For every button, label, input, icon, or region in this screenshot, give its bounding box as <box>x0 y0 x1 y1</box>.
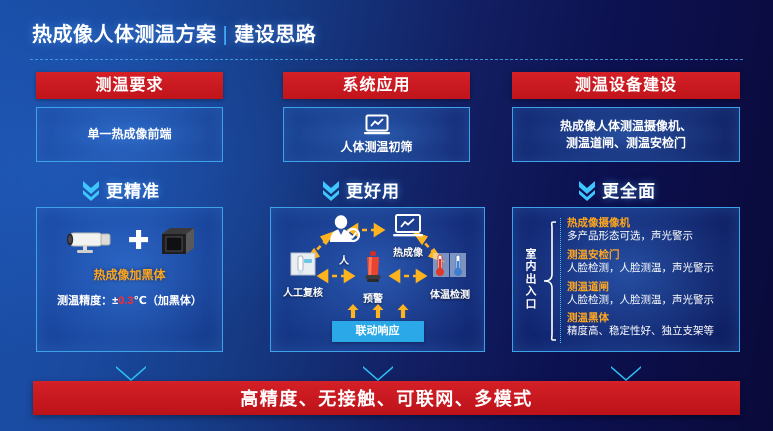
monitor-chart-icon <box>393 213 423 238</box>
chevron-down-double-icon <box>82 179 100 201</box>
person-check-icon <box>327 214 361 246</box>
chevron-down-icon <box>116 366 146 381</box>
column-2-top-text: 人体测温初筛 <box>340 139 412 155</box>
column-2-header: 系统应用 <box>283 72 470 99</box>
node-manual-review-label: 人工复核 <box>277 284 329 299</box>
column-device-construction: 测温设备建设 热成像人体测温摄像机、 测温道闸、测温安检门 <box>512 72 740 162</box>
monitor-chart-icon <box>364 114 390 135</box>
arrow-label-3-text: 更全面 <box>602 177 656 202</box>
slide-canvas: 热成像人体测温方案|建设思路 测温要求 单一热成像前端 更精准 <box>0 0 773 431</box>
bottom-chevrons <box>0 366 773 382</box>
device-item-desc: 人脸检测，人脸测温，声光警示 <box>567 294 733 308</box>
dual-thermometer-icon <box>432 252 468 280</box>
column-1-top-text: 单一热成像前端 <box>87 126 171 142</box>
chevron-down-double-icon <box>322 179 340 201</box>
column-1-device-label: 热成像加黑体 <box>37 266 222 283</box>
device-item-desc: 人脸检测，人脸测温，声光警示 <box>567 262 733 276</box>
column-3-top-panel: 热成像人体测温摄像机、 测温道闸、测温安检门 <box>512 107 740 162</box>
handheld-thermometer-icon <box>288 252 318 278</box>
accuracy-suffix: ℃（加黑体） <box>134 295 202 307</box>
node-manual-review: 人工复核 <box>277 252 329 299</box>
bottom-banner: 高精度、无接触、可联网、多模式 <box>33 381 740 415</box>
up-arrows <box>347 304 408 318</box>
blackbody-icon <box>158 224 198 256</box>
arrow-label-2: 更好用 <box>322 177 400 202</box>
column-temperature-requirements: 测温要求 单一热成像前端 <box>36 72 223 162</box>
brace-icon <box>543 220 557 342</box>
accuracy-prefix: 测温精度：± <box>57 295 118 307</box>
column-1-header: 测温要求 <box>36 72 223 99</box>
arrow-label-1: 更精准 <box>82 177 160 202</box>
title-main: 热成像人体测温方案 <box>32 24 217 46</box>
node-temperature-detection-label: 体温检测 <box>421 286 479 301</box>
column-3-top-text-line2: 测温道闸、测温安检门 <box>566 135 686 151</box>
device-item-title: 测温黑体 <box>567 312 733 325</box>
node-alarm-label: 预警 <box>350 290 396 305</box>
column-2-lower: 人工复核 人 <box>270 207 485 352</box>
page-title: 热成像人体测温方案|建设思路 <box>32 18 316 47</box>
plus-icon: ✚ <box>128 227 150 253</box>
chevron-down-double-icon <box>578 179 596 201</box>
linked-response-button[interactable]: 联动响应 <box>332 321 424 342</box>
list-item: 测温道闸 人脸检测，人脸测温，声光警示 <box>567 281 733 308</box>
thermal-camera-icon <box>61 225 119 255</box>
arrow-label-2-text: 更好用 <box>346 177 400 202</box>
title-separator: | <box>217 24 235 46</box>
node-alarm: 预警 <box>350 250 396 305</box>
column-1-device-row: ✚ <box>37 208 222 256</box>
node-temperature-detection: 体温检测 <box>421 252 479 301</box>
column-system-application: 系统应用 人体测温初筛 <box>283 72 470 162</box>
arrow-up-icon <box>397 304 408 318</box>
list-item: 测温安检门 人脸检测，人脸测温，声光警示 <box>567 249 733 276</box>
arrow-up-icon <box>347 304 358 318</box>
arrow-label-3: 更全面 <box>578 177 656 202</box>
arrow-label-1-text: 更精准 <box>106 177 160 202</box>
accuracy-value: 0.3 <box>118 295 133 307</box>
list-item: 测温黑体 精度高、稳定性好、独立支架等 <box>567 312 733 339</box>
arrow-up-icon <box>372 304 383 318</box>
device-item-title: 测温道闸 <box>567 281 733 294</box>
chevron-down-icon <box>611 366 641 381</box>
device-item-list: 热成像摄像机 多产品形态可选，声光警示 测温安检门 人脸检测，人脸测温，声光警示… <box>567 217 733 344</box>
device-item-title: 测温安检门 <box>567 249 733 262</box>
column-1-top-panel: 单一热成像前端 <box>36 107 223 162</box>
column-1-accuracy: 测温精度：±0.3℃（加黑体） <box>37 292 222 308</box>
chevron-down-icon <box>363 366 393 381</box>
title-sub: 建设思路 <box>234 24 316 46</box>
column-3-header: 测温设备建设 <box>512 72 740 99</box>
column-3-lower: 室内出入口 热成像摄像机 多产品形态可选，声光警示 测温安检门 人脸检测，人脸测… <box>512 207 740 352</box>
device-item-desc: 多产品形态可选，声光警示 <box>567 230 733 244</box>
column-3-top-text-line1: 热成像人体测温摄像机、 <box>560 118 692 134</box>
title-divider <box>30 59 743 60</box>
indoor-entrance-label: 室内出入口 <box>523 248 539 311</box>
alarm-beacon-icon <box>361 250 385 284</box>
device-item-title: 热成像摄像机 <box>567 217 733 230</box>
column-1-lower: ✚ 热成像加黑体 测温精度：±0.3℃（加黑体） <box>36 207 223 352</box>
column-2-top-panel: 人体测温初筛 <box>283 107 470 162</box>
device-item-desc: 精度高、稳定性好、独立支架等 <box>567 325 733 339</box>
dotted-divider <box>560 218 561 343</box>
list-item: 热成像摄像机 多产品形态可选，声光警示 <box>567 217 733 244</box>
